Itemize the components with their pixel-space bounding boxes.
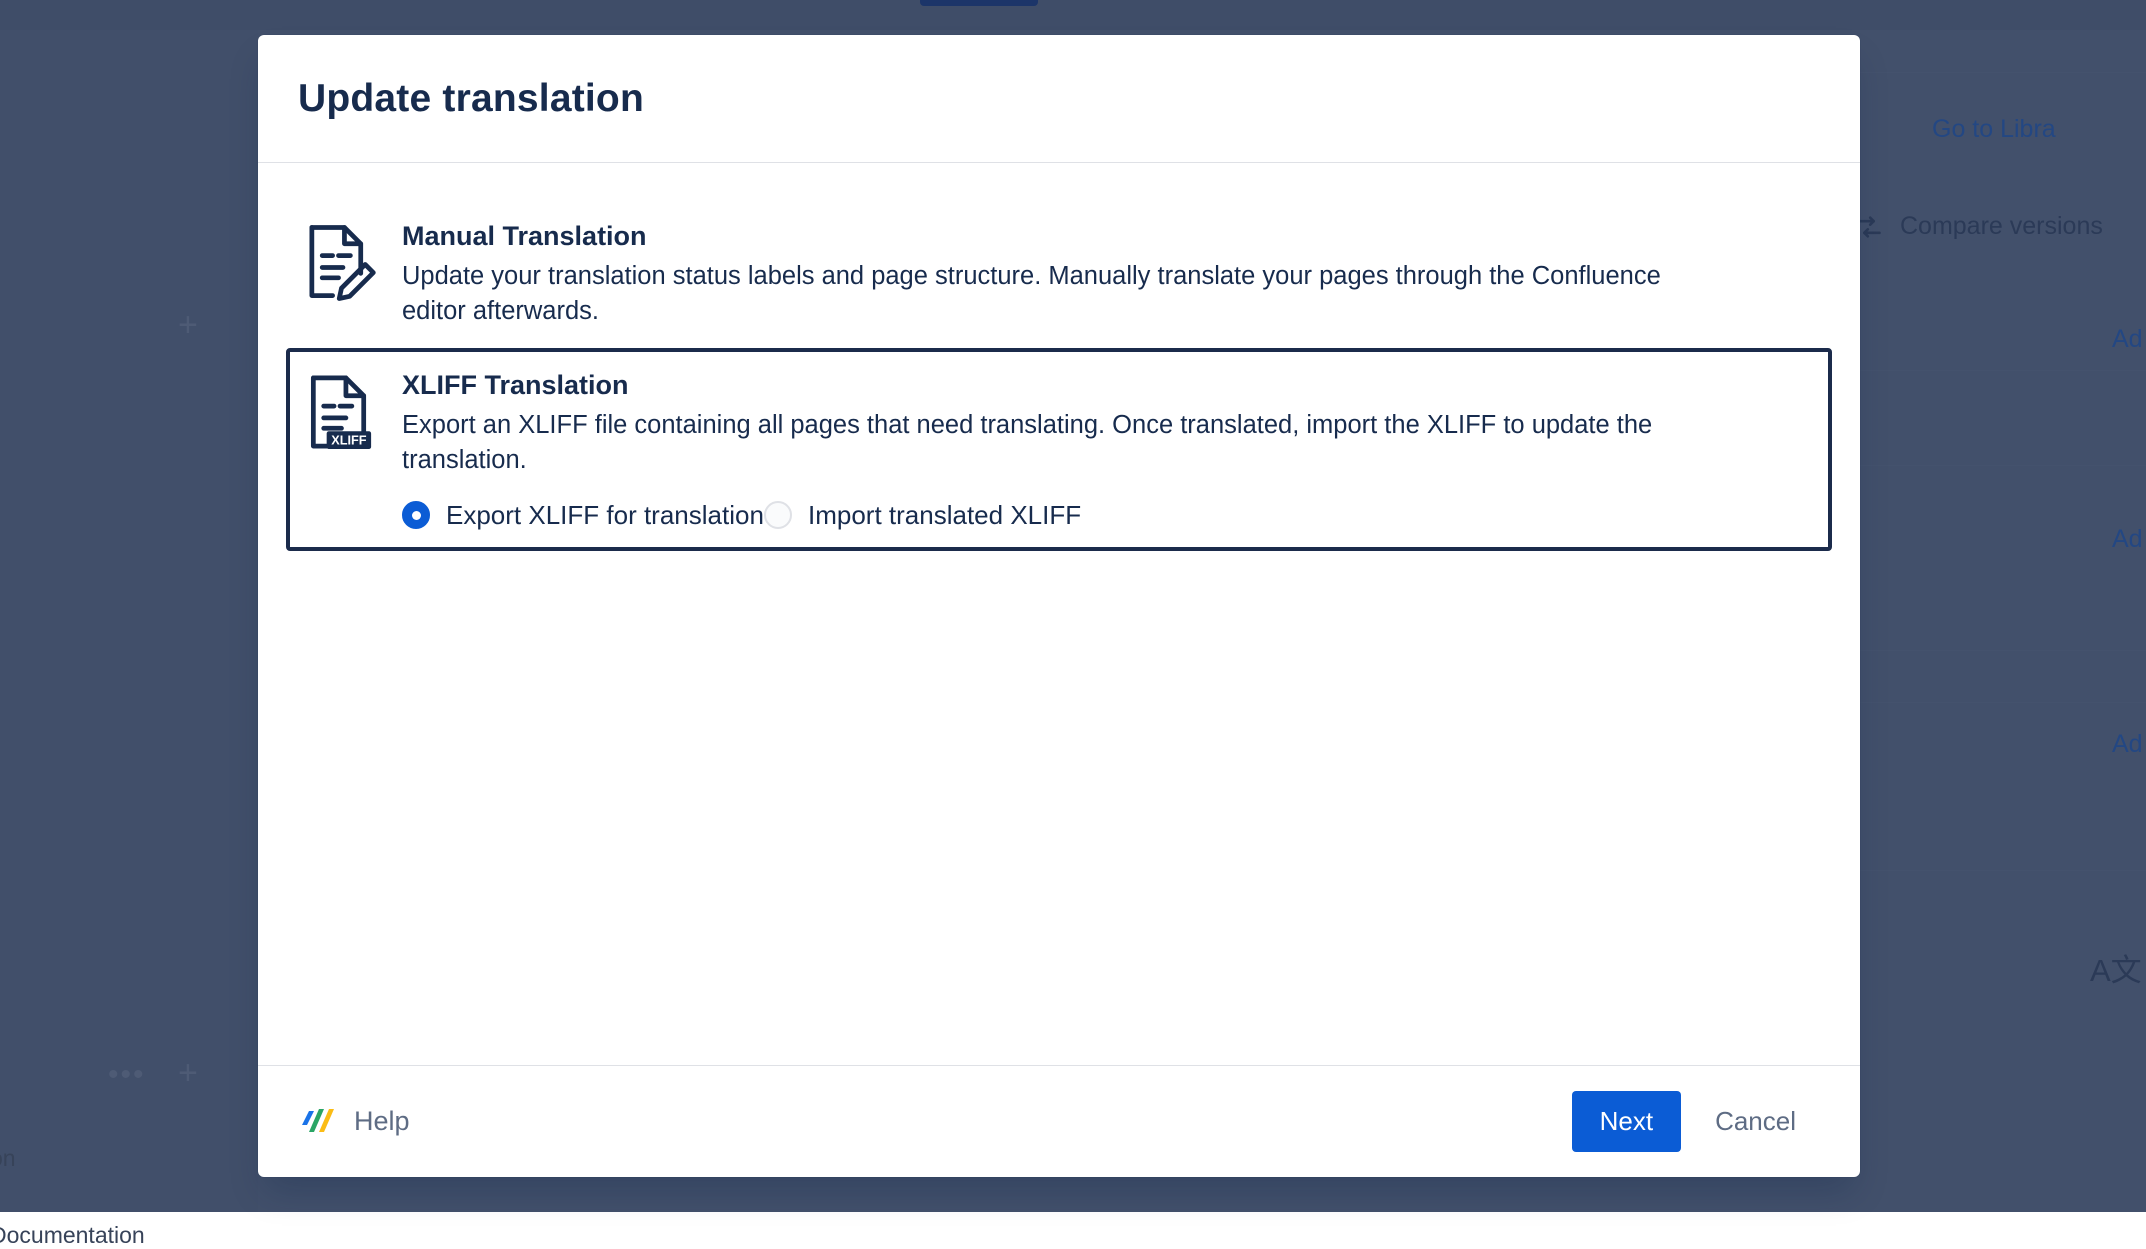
update-translation-dialog: Update translation Manual Translation Up…	[258, 35, 1860, 1177]
radio-label: Export XLIFF for translation	[446, 500, 764, 531]
panel-divider	[1860, 72, 2146, 73]
panel-divider	[1860, 702, 2146, 703]
option-title: XLIFF Translation	[402, 370, 1814, 401]
radio-import-xliff[interactable]: Import translated XLIFF	[764, 500, 1081, 531]
compare-versions-item[interactable]: Compare versions	[1852, 212, 2103, 241]
panel-divider	[1860, 650, 2146, 651]
background-right-panel: Go to Libra Compare versions Ad Ad Ad A文	[1860, 30, 2146, 1212]
dialog-footer: Help Next Cancel	[258, 1065, 1860, 1177]
help-label: Help	[354, 1106, 410, 1137]
more-options-icon[interactable]: •••	[108, 1060, 146, 1090]
add-icon-bottom[interactable]: +	[178, 1056, 198, 1090]
document-xliff-icon: XLIFF	[304, 368, 376, 448]
option-xliff-translation[interactable]: XLIFF XLIFF Translation Export an XLIFF …	[286, 348, 1832, 550]
background-top-button[interactable]	[920, 0, 1038, 6]
sidebar-item-documentation[interactable]: Documentation	[0, 1222, 145, 1249]
add-link-3[interactable]: Ad	[2112, 730, 2143, 759]
translate-icon[interactable]: A文	[2090, 945, 2142, 990]
panel-divider	[1860, 370, 2146, 371]
go-to-library-link[interactable]: Go to Libra	[1932, 115, 2056, 144]
document-pencil-icon	[304, 219, 376, 299]
dialog-header: Update translation	[258, 35, 1860, 163]
panel-divider	[1860, 870, 2146, 871]
radio-label: Import translated XLIFF	[808, 500, 1081, 531]
radio-indicator-selected[interactable]	[402, 501, 430, 529]
background-sidebar: + ••• + on Documentation	[0, 30, 258, 1212]
option-description: Export an XLIFF file containing all page…	[402, 408, 1692, 477]
option-description: Update your translation status labels an…	[402, 259, 1692, 328]
option-title: Manual Translation	[402, 221, 1814, 252]
radio-export-xliff[interactable]: Export XLIFF for translation	[402, 500, 764, 531]
add-link-1[interactable]: Ad	[2112, 325, 2143, 354]
cancel-button[interactable]: Cancel	[1693, 1091, 1818, 1152]
dialog-body: Manual Translation Update your translati…	[258, 163, 1860, 1065]
add-icon[interactable]: +	[178, 308, 198, 342]
help-link[interactable]: Help	[300, 1105, 410, 1139]
next-button[interactable]: Next	[1572, 1091, 1681, 1152]
dialog-title: Update translation	[298, 77, 644, 121]
panel-divider	[1860, 465, 2146, 466]
option-manual-translation[interactable]: Manual Translation Update your translati…	[286, 199, 1832, 348]
svg-text:XLIFF: XLIFF	[331, 433, 367, 448]
slashes-logo-icon	[300, 1105, 338, 1139]
compare-versions-label: Compare versions	[1900, 212, 2103, 241]
radio-indicator-unselected[interactable]	[764, 501, 792, 529]
background-top-bar	[0, 0, 2146, 30]
xliff-mode-radio-group: Export XLIFF for translation Import tran…	[402, 500, 1814, 531]
add-link-2[interactable]: Ad	[2112, 525, 2143, 554]
sidebar-text-fragment: on	[0, 1145, 16, 1172]
